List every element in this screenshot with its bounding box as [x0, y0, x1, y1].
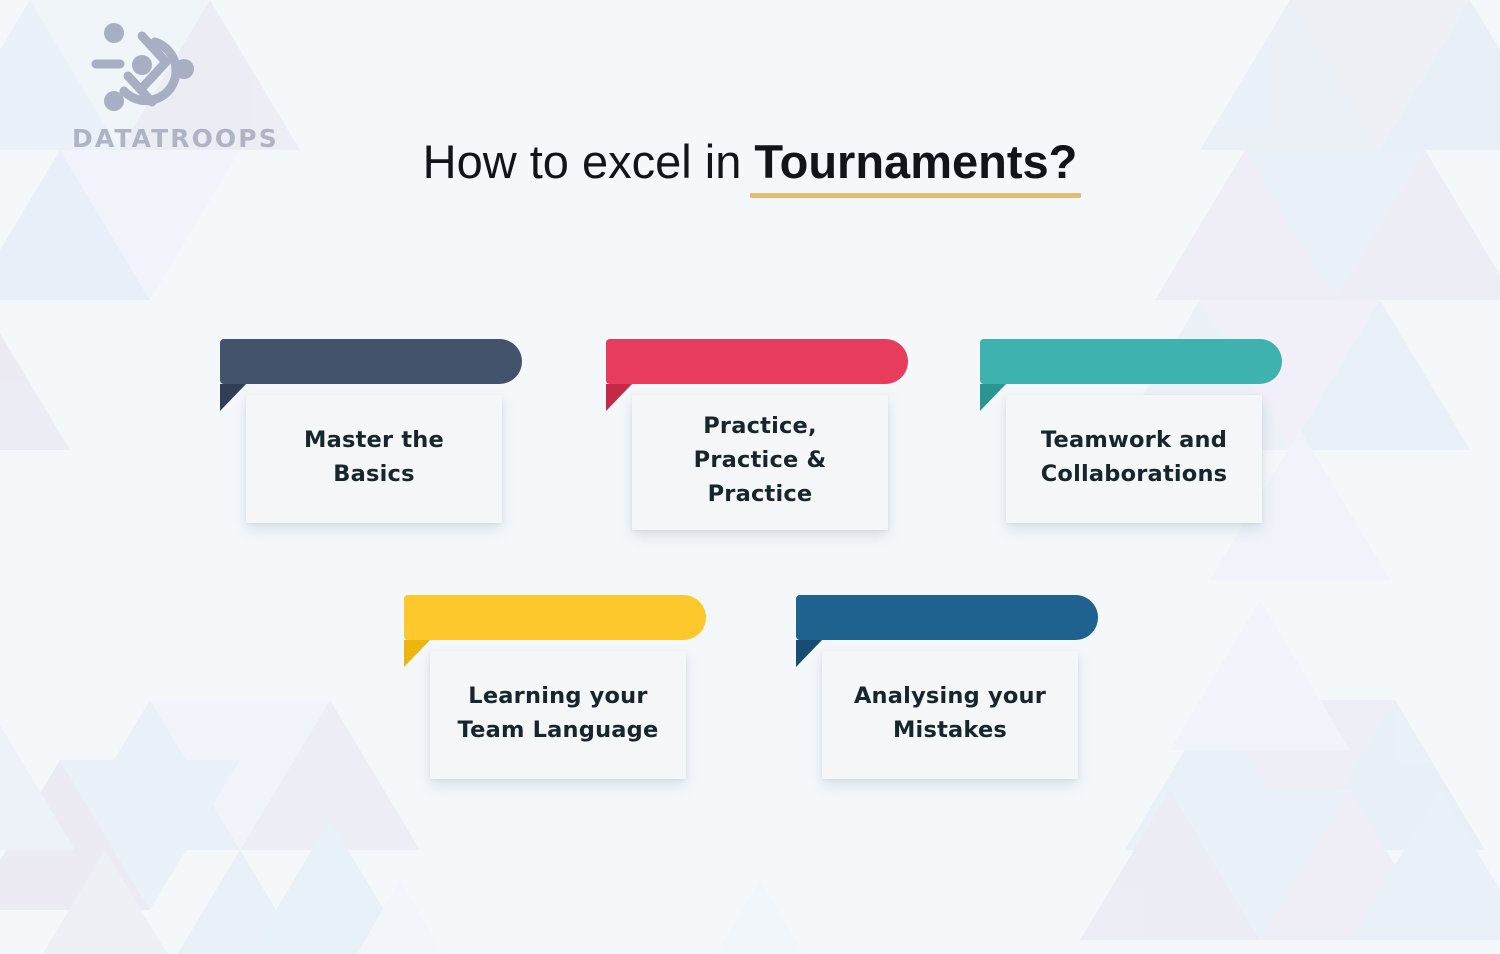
card-body: Analysing yourMistakes — [822, 651, 1078, 779]
card-title: Practice,Practice &Practice — [694, 409, 827, 512]
ribbon-bar — [220, 339, 522, 384]
ribbon-bar — [404, 595, 706, 640]
card-ribbon — [784, 595, 1074, 651]
card-title: Learning yourTeam Language — [458, 679, 659, 747]
ribbon-bar — [606, 339, 908, 384]
ribbon-bar — [796, 595, 1098, 640]
card-title: Teamwork andCollaborations — [1041, 423, 1228, 491]
card-body: Practice,Practice &Practice — [632, 395, 888, 530]
card-ribbon — [208, 339, 498, 395]
card-analysing-your-mistakes[interactable]: Analysing yourMistakes — [784, 595, 1074, 779]
card-body: Learning yourTeam Language — [430, 651, 686, 779]
card-teamwork-and-collaborations[interactable]: Teamwork andCollaborations — [968, 339, 1258, 523]
ribbon-fold-icon — [796, 640, 822, 667]
datatroops-atom-logo-icon — [80, 22, 196, 120]
card-ribbon — [392, 595, 682, 651]
card-title: Analysing yourMistakes — [854, 679, 1046, 747]
card-body: Teamwork andCollaborations — [1006, 395, 1262, 523]
page-title: How to excel in Tournaments? — [0, 134, 1500, 189]
ribbon-fold-icon — [980, 384, 1006, 411]
ribbon-fold-icon — [220, 384, 246, 411]
card-title: Master theBasics — [304, 423, 444, 491]
ribbon-fold-icon — [606, 384, 632, 411]
card-master-the-basics[interactable]: Master theBasics — [208, 339, 498, 523]
page-title-lead: How to excel in — [423, 135, 755, 188]
page-title-accent: Tournaments? — [754, 134, 1077, 189]
card-learning-your-team-language[interactable]: Learning yourTeam Language — [392, 595, 682, 779]
ribbon-bar — [980, 339, 1282, 384]
card-ribbon — [968, 339, 1258, 395]
card-ribbon — [594, 339, 884, 395]
card-practice-practice-practice[interactable]: Practice,Practice &Practice — [594, 339, 884, 530]
card-body: Master theBasics — [246, 395, 502, 523]
ribbon-fold-icon — [404, 640, 430, 667]
